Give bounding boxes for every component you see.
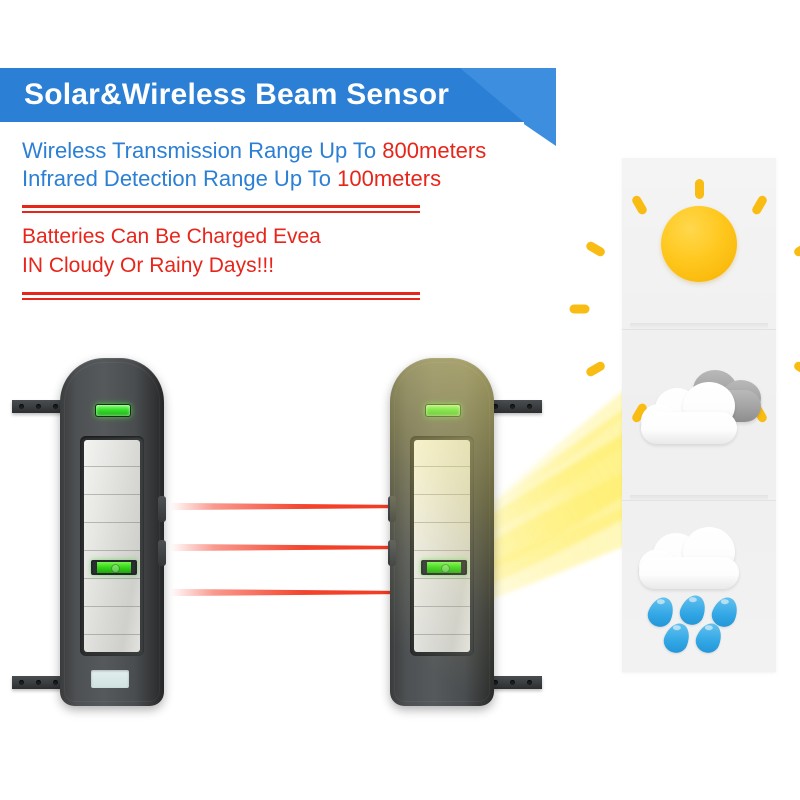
subtitle-infrared-range: Infrared Detection Range Up To 100meters xyxy=(22,166,441,192)
claim-divider-bottom xyxy=(22,292,420,300)
infrared-lens-window xyxy=(91,670,129,688)
page-title: Solar&Wireless Beam Sensor xyxy=(24,68,449,122)
claim-divider-top xyxy=(22,205,420,213)
claim-line-2: IN Cloudy Or Rainy Days!!! xyxy=(22,254,274,278)
infrared-beam xyxy=(170,588,415,597)
subtitle-wireless-range-value: 800meters xyxy=(382,138,486,163)
infrared-beam xyxy=(170,543,415,552)
side-button[interactable] xyxy=(388,496,396,522)
solar-panel-frame xyxy=(80,436,144,656)
weather-item-cloudy xyxy=(622,329,776,501)
sunny-icon xyxy=(634,179,764,309)
subtitle-wireless-range: Wireless Transmission Range Up To 800met… xyxy=(22,138,486,164)
side-button[interactable] xyxy=(158,540,166,566)
subtitle-infrared-range-text: Infrared Detection Range Up To xyxy=(22,166,337,191)
mounting-bracket xyxy=(486,400,542,413)
infrared-beam xyxy=(170,502,415,511)
bubble-level xyxy=(421,560,467,575)
green-status-led xyxy=(425,404,461,417)
rainy-icon xyxy=(629,527,769,647)
partly-cloudy-icon xyxy=(629,356,769,476)
claim-line-1: Batteries Can Be Charged Evea xyxy=(22,225,321,249)
bubble-level xyxy=(91,560,137,575)
product-infographic: Solar&Wireless Beam Sensor Wireless Tran… xyxy=(0,0,800,800)
mounting-bracket xyxy=(486,676,542,689)
weather-item-rainy xyxy=(622,500,776,672)
solar-panel-frame xyxy=(410,436,474,656)
subtitle-infrared-range-value: 100meters xyxy=(337,166,441,191)
banner-ribbon-tail xyxy=(524,68,556,146)
green-status-led xyxy=(95,404,131,417)
raindrop xyxy=(676,591,709,628)
sun-disc xyxy=(661,206,737,282)
transmitter-sensor[interactable] xyxy=(60,358,164,706)
side-button[interactable] xyxy=(158,496,166,522)
solar-panel xyxy=(414,440,470,652)
solar-panel xyxy=(84,440,140,652)
weather-condition-panel xyxy=(622,158,776,672)
title-banner: Solar&Wireless Beam Sensor xyxy=(0,68,600,122)
receiver-sensor[interactable] xyxy=(390,358,494,706)
weather-item-sunny xyxy=(622,158,776,329)
side-button[interactable] xyxy=(388,540,396,566)
subtitle-wireless-range-text: Wireless Transmission Range Up To xyxy=(22,138,382,163)
